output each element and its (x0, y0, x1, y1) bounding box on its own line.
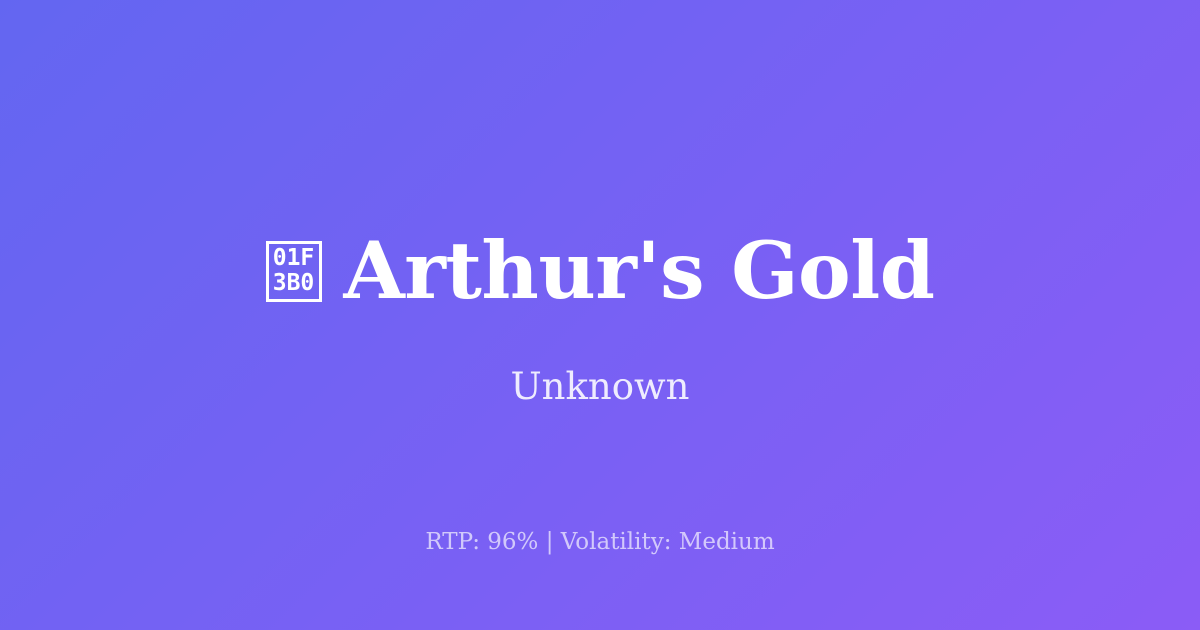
game-stats-footer: RTP: 96% | Volatility: Medium (0, 526, 1200, 558)
provider-subtitle: Unknown (0, 363, 1200, 411)
game-og-card: 01F 3B0 Arthur's Gold Unknown RTP: 96% |… (0, 0, 1200, 630)
tofu-codepoint-bottom: 3B0 (273, 271, 315, 296)
slot-machine-icon: 01F 3B0 (266, 241, 322, 302)
tofu-codepoint-top: 01F (273, 246, 315, 271)
title-row: 01F 3B0 Arthur's Gold (0, 226, 1200, 316)
page-title: Arthur's Gold (344, 226, 935, 316)
